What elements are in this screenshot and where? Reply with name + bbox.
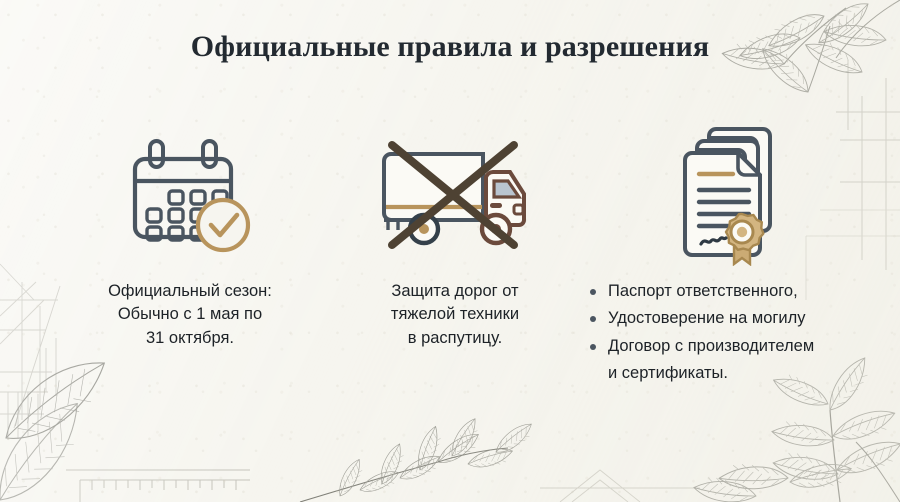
season-line-3: 31 октября. [40, 327, 340, 350]
leaf-bottom-left-2 [0, 394, 99, 502]
document-item-3: Договор с производителем [608, 337, 814, 355]
page-title: Официальные правила и разрешения [0, 30, 900, 64]
column-season: Официальный сезон: Обычно с 1 мая по 31 … [40, 126, 340, 350]
road-line-3: в распутицу. [320, 327, 590, 350]
document-item-3-continuation: и сертификаты. [608, 364, 728, 382]
list-item-continuation: и сертификаты. [588, 362, 888, 385]
documents-bullet-list: Паспорт ответственного, Удостоверение на… [588, 280, 888, 386]
architect-lines-bottom-center [540, 470, 700, 502]
no-heavy-truck-icon [374, 137, 536, 255]
ruler-graphic [66, 470, 250, 502]
certificate-documents-icon [675, 126, 801, 266]
content-columns: Официальный сезон: Обычно с 1 мая по 31 … [0, 126, 900, 396]
column-road-protection: Защита дорог от тяжелой техники в распут… [320, 126, 590, 350]
list-item: Удостоверение на могилу [588, 307, 888, 330]
season-line-1: Официальный сезон: [40, 280, 340, 303]
no-heavy-truck-icon-wrap [320, 126, 590, 266]
list-item: Договор с производителем [588, 335, 888, 358]
road-line-1: Защита дорог от [320, 280, 590, 303]
certificate-documents-icon-wrap [588, 126, 888, 266]
document-item-2: Удостоверение на могилу [608, 309, 806, 327]
list-item: Паспорт ответственного, [588, 280, 888, 303]
leaf-sprig-bottom-center [300, 416, 537, 502]
calendar-check-icon [124, 137, 256, 255]
season-line-2: Обычно с 1 мая по [40, 303, 340, 326]
slide-canvas: Официальные правила и разрешения [0, 0, 900, 502]
season-text: Официальный сезон: Обычно с 1 мая по 31 … [40, 280, 340, 350]
road-protection-text: Защита дорог от тяжелой техники в распут… [320, 280, 590, 350]
document-item-1: Паспорт ответственного, [608, 282, 798, 300]
column-documents: Паспорт ответственного, Удостоверение на… [588, 126, 888, 390]
road-line-2: тяжелой техники [320, 303, 590, 326]
calendar-check-icon-wrap [40, 126, 340, 266]
